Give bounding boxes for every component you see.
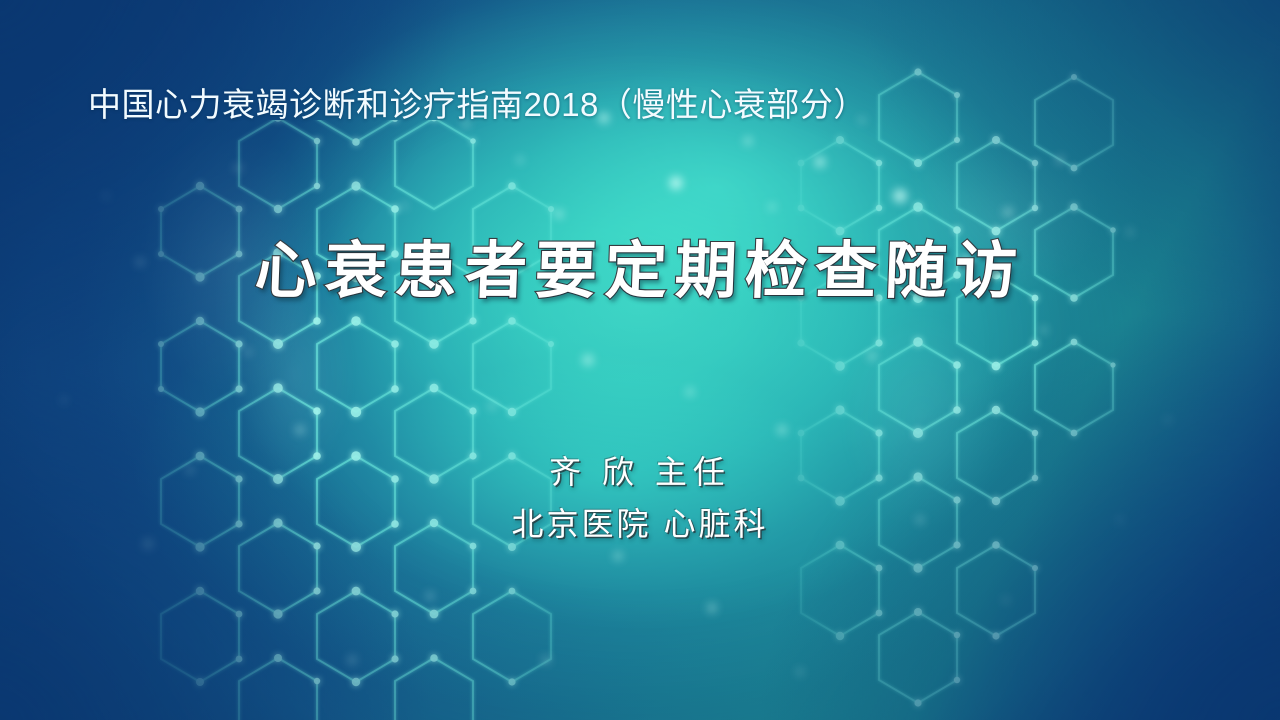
slide-main-title: 心衰患者要定期检查随访: [0, 240, 1280, 302]
presenter-info: 齐 欣 主任 北京医院 心脏科: [0, 452, 1280, 544]
presenter-name: 齐 欣 主任: [0, 452, 1280, 492]
bokeh-particles: [60, 113, 1171, 676]
presenter-organization: 北京医院 心脏科: [0, 504, 1280, 544]
guideline-header-title: 中国心力衰竭诊断和诊疗指南2018（慢性心衰部分）: [88, 84, 867, 125]
video-slide-frame: 中国心力衰竭诊断和诊疗指南2018（慢性心衰部分） 心衰患者要定期检查随访 齐 …: [0, 0, 1280, 720]
